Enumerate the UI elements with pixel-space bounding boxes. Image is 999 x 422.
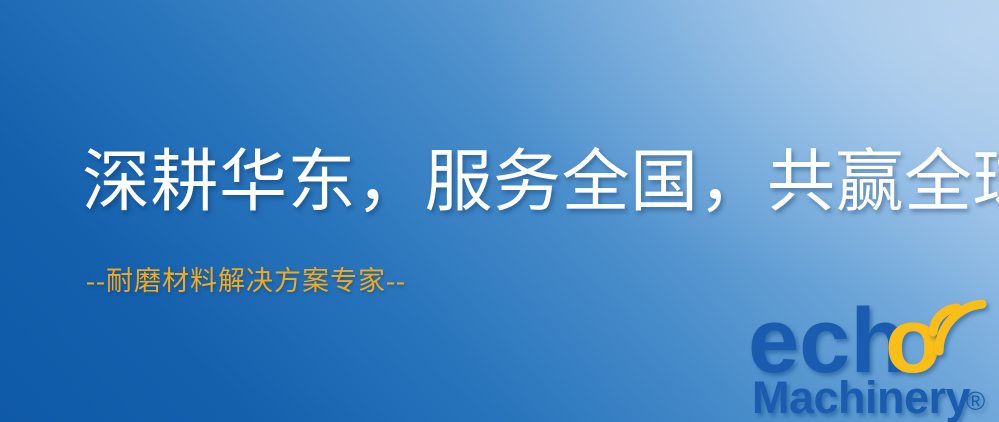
- banner-headline: 深耕华东，服务全国，共赢全球: [82, 148, 999, 216]
- echo-machinery-logo[interactable]: ech o Machinery ®: [748, 296, 999, 422]
- hero-banner: 深耕华东，服务全国，共赢全球 --耐磨材料解决方案专家-- ech o Mach…: [0, 0, 999, 422]
- logo-trademark-symbol: ®: [966, 386, 985, 416]
- logo-graphic: ech o Machinery ®: [748, 296, 999, 422]
- banner-subtitle: --耐磨材料解决方案专家--: [86, 268, 406, 295]
- logo-tagline: Machinery: [752, 372, 971, 422]
- wifi-waves-icon: [933, 304, 982, 351]
